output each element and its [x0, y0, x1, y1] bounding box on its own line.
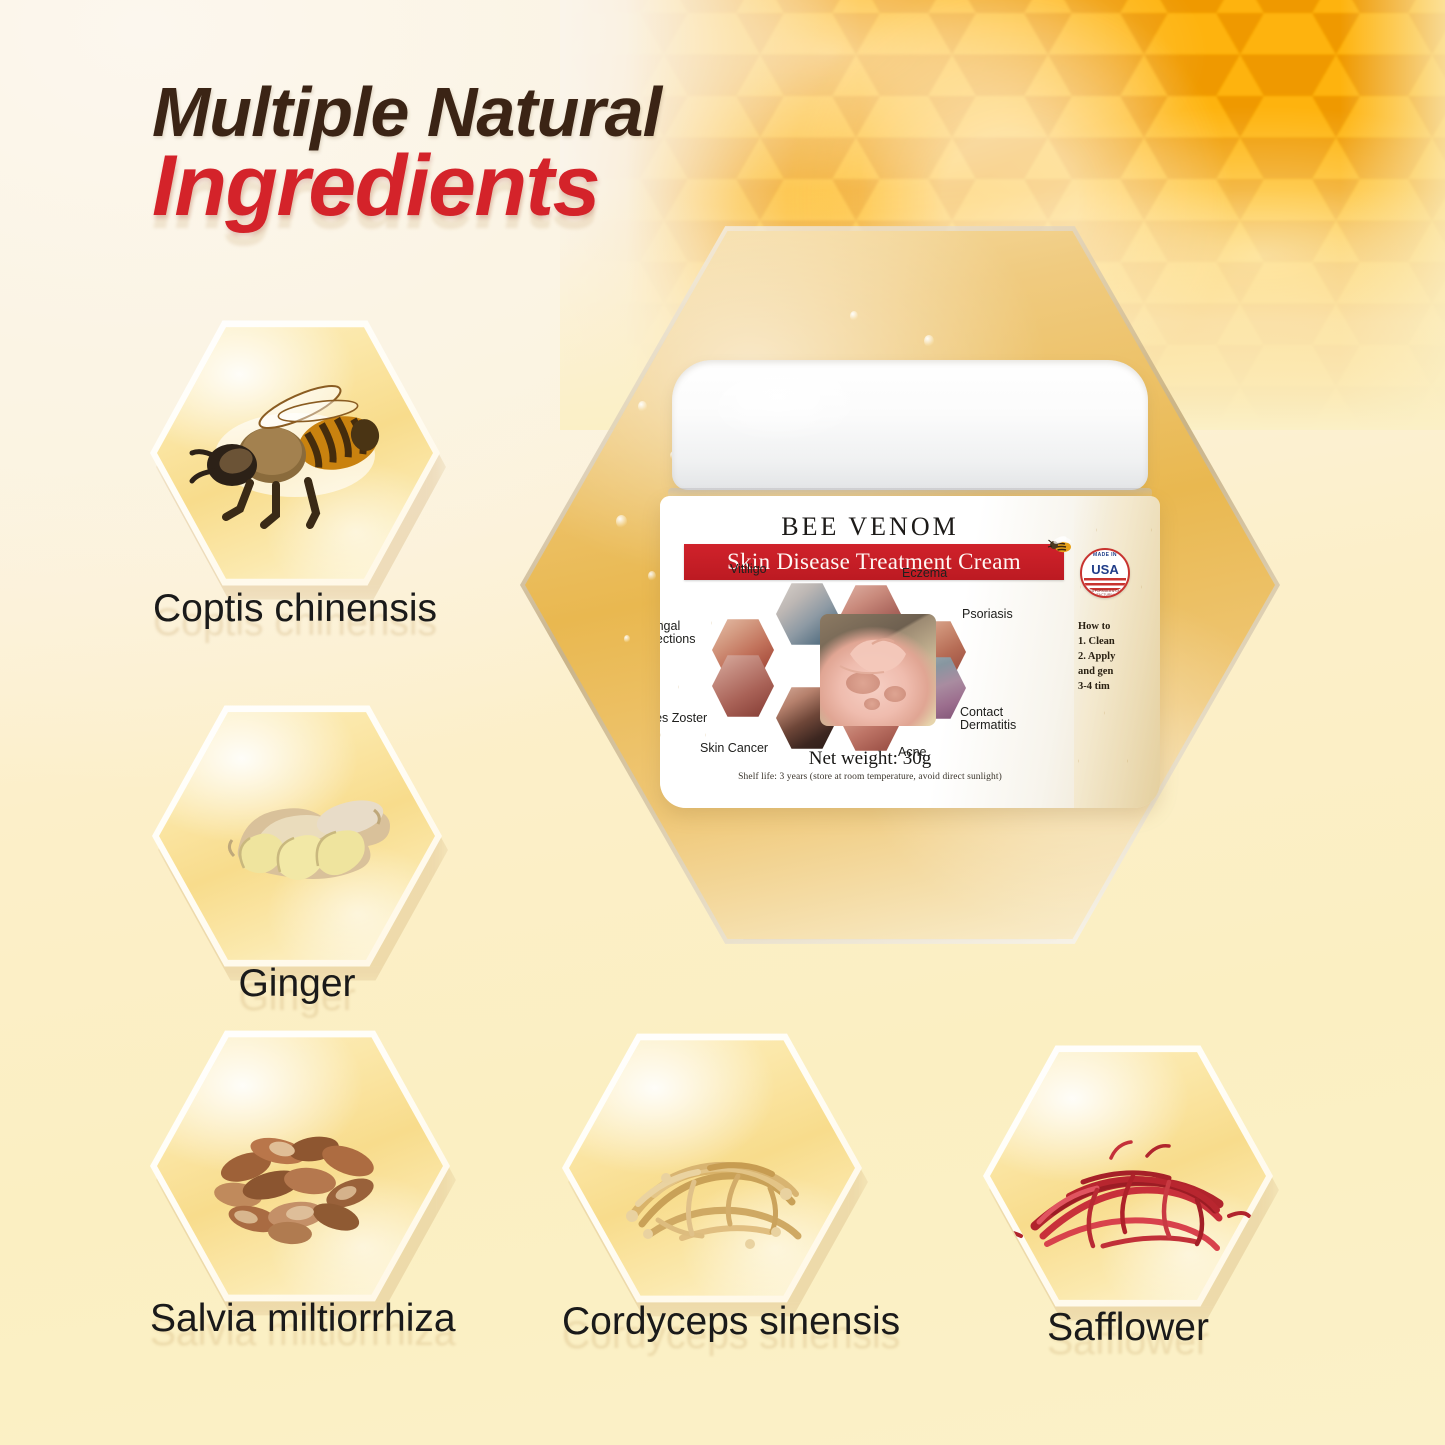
- jar-lid: [672, 360, 1148, 490]
- condition-label: Contact Dermatitis: [960, 706, 1016, 733]
- badge-made-in-text: MADE IN: [1082, 552, 1128, 558]
- condition-label: Eczema: [902, 567, 947, 580]
- droplet: [924, 335, 934, 347]
- ingredient-label: Salvia miltiorrhiza: [150, 1297, 450, 1341]
- how-to-use-block: How to 1. Clean 2. Apply and gen 3-4 tim: [1078, 620, 1158, 695]
- ingredients-poster: Ingredients Multiple Natural Ingredients: [0, 0, 1445, 1445]
- ingredient-label: Coptis chinensis: [150, 587, 440, 631]
- condition-label: Fungal Infections: [660, 620, 696, 647]
- how-to-step-4: 3-4 tim: [1078, 680, 1158, 695]
- made-in-usa-badge: MADE IN USA USA FORMULA & GMP MANUFACTUR…: [1080, 548, 1130, 598]
- droplet: [624, 635, 630, 643]
- glass-hexagon-container: BEE VENOM Skin Disease Treatment Cream: [520, 215, 1280, 955]
- badge-fine-print: USA FORMULA & GMP MANUFACTURING INC: [1082, 589, 1128, 597]
- badge-country-text: USA: [1082, 562, 1128, 577]
- honeycomb-fade-right: [1340, 0, 1445, 430]
- condition-photo: [712, 654, 774, 718]
- droplet: [638, 401, 647, 412]
- shelf-life: Shelf life: 3 years (store at room tempe…: [660, 772, 1080, 782]
- condition-label: Herpes Zoster: [660, 712, 707, 725]
- how-to-step-2: 2. Apply: [1078, 650, 1158, 665]
- ingredient-label: Safflower: [983, 1306, 1273, 1350]
- how-to-title: How to: [1078, 620, 1158, 635]
- jar-lid-highlight: [718, 372, 868, 442]
- condition-label: Vitiligo: [730, 563, 767, 576]
- ingredient-safflower: Safflower Safflower: [983, 1040, 1273, 1312]
- ingredient-label: Cordyceps sinensis: [562, 1300, 862, 1344]
- ingredient-ginger: Ginger Ginger: [152, 700, 442, 972]
- how-to-step-3: and gen: [1078, 665, 1158, 680]
- condition-label: Psoriasis: [962, 608, 1013, 621]
- net-weight: Net weight: 30g: [660, 748, 1080, 770]
- hand-icon: [820, 614, 936, 726]
- bee-icon: [1046, 534, 1076, 556]
- droplet: [616, 515, 627, 528]
- product-title: Skin Disease Treatment Cream: [727, 549, 1021, 575]
- application-illustration: [820, 614, 936, 726]
- cream-jar: BEE VENOM Skin Disease Treatment Cream: [660, 360, 1160, 810]
- condition-hexagon-cluster: Vitiligo Eczema Fungal Infections: [680, 580, 1070, 760]
- ingredient-cordyceps-sinensis: Cordyceps sinensis Cordyceps sinensis: [562, 1028, 862, 1308]
- droplet: [648, 571, 656, 581]
- brand-name: BEE VENOM: [660, 512, 1080, 542]
- how-to-step-1: 1. Clean: [1078, 635, 1158, 650]
- jar-body: BEE VENOM Skin Disease Treatment Cream: [660, 496, 1160, 808]
- droplet: [850, 311, 858, 321]
- headline-line1: Multiple Natural: [152, 78, 661, 147]
- headline-line2: Ingredients: [152, 143, 661, 229]
- label-right-panel: MADE IN USA USA FORMULA & GMP MANUFACTUR…: [1074, 496, 1160, 808]
- ingredient-label: Ginger: [152, 962, 442, 1006]
- ingredient-coptis-chinensis: Coptis chinensis Coptis chinensis: [150, 315, 440, 591]
- ingredient-salvia-miltiorrhiza: Salvia miltiorrhiza Salvia miltiorrhiza: [150, 1025, 450, 1307]
- condition-herpes-zoster: Herpes Zoster: [712, 654, 774, 718]
- headline: Multiple Natural Ingredients: [152, 78, 661, 229]
